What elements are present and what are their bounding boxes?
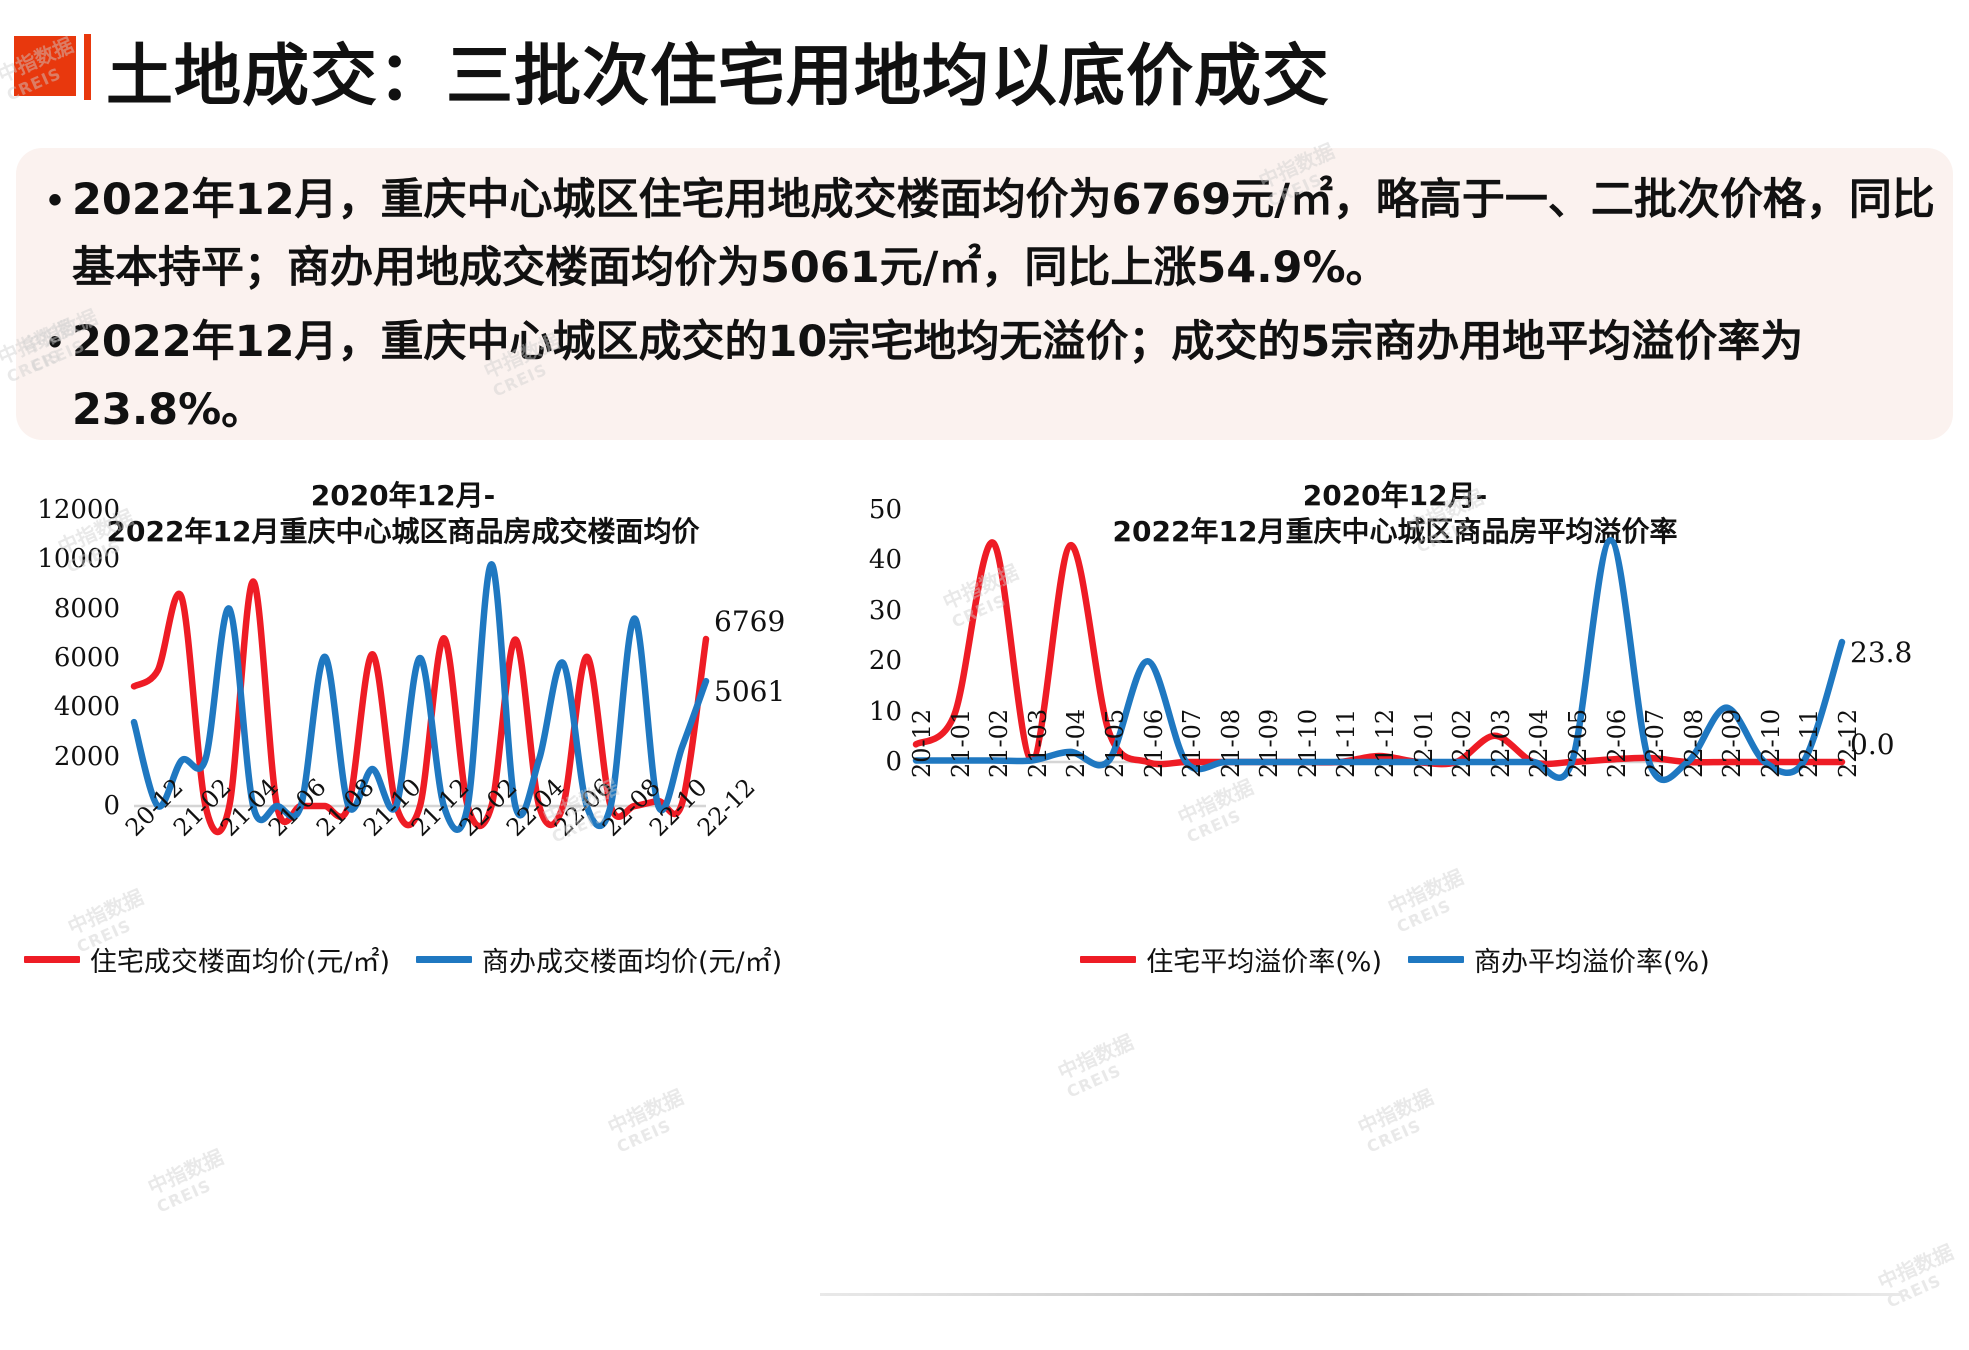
x-axis-tick: 22-11 [1795, 709, 1823, 778]
y-axis-tick: 4000 [8, 692, 120, 722]
x-axis-tick: 22-05 [1564, 709, 1592, 778]
chart-price: 2020年12月- 2022年12月重庆中心城区商品房成交楼面均价 020004… [8, 470, 798, 1010]
header-accent-bar [84, 34, 91, 100]
summary-panel: • 2022年12月，重庆中心城区住宅用地成交楼面均价为6769元/㎡，略高于一… [16, 148, 1953, 440]
y-axis-tick: 40 [830, 545, 902, 575]
bullet-text: 2022年12月，重庆中心城区成交的10宗宅地均无溢价；成交的5宗商办用地平均溢… [72, 308, 1935, 444]
chart-premium: 2020年12月- 2022年12月重庆中心城区商品房平均溢价率 0102030… [830, 470, 1960, 1010]
series-end-label: 6769 [714, 605, 785, 638]
x-axis-tick: 22-09 [1718, 709, 1746, 778]
watermark: 中指数据CREIS [605, 1086, 696, 1159]
y-axis-tick: 8000 [8, 594, 120, 624]
footer-divider [820, 1293, 1900, 1296]
x-axis-tick: 22-06 [1603, 709, 1631, 778]
legend-item[interactable]: 住宅成交楼面均价(元/㎡) [24, 940, 390, 979]
x-axis-tick: 21-03 [1024, 709, 1052, 778]
x-axis-tick: 22-10 [1757, 709, 1785, 778]
x-axis-tick: 22-07 [1641, 709, 1669, 778]
x-axis-tick: 22-01 [1410, 709, 1438, 778]
x-axis-tick: 21-12 [1371, 709, 1399, 778]
y-axis-tick: 2000 [8, 742, 120, 772]
x-axis-tick: 20-12 [908, 709, 936, 778]
y-axis-tick: 12000 [8, 495, 120, 525]
legend-item[interactable]: 商办成交楼面均价(元/㎡) [416, 940, 782, 979]
y-axis-tick: 0 [830, 747, 902, 777]
series-end-label: 0.0 [1850, 728, 1895, 761]
plot-area-premium: 0102030405020-1221-0121-0221-0321-0421-0… [830, 502, 1960, 902]
chart-svg [8, 502, 798, 902]
legend-swatch-icon [1080, 956, 1136, 963]
x-axis-tick: 21-06 [1140, 709, 1168, 778]
x-axis-tick: 21-09 [1255, 709, 1283, 778]
series-end-label: 5061 [714, 675, 785, 708]
y-axis-tick: 50 [830, 495, 902, 525]
page-title: 土地成交：三批次住宅用地均以底价成交 [106, 22, 1330, 119]
bullet-marker-icon: • [38, 308, 72, 376]
x-axis-tick: 21-02 [985, 709, 1013, 778]
slide-header: 土地成交：三批次住宅用地均以底价成交 [0, 14, 1969, 124]
legend-label: 住宅成交楼面均价(元/㎡) [90, 940, 390, 979]
x-axis-tick: 21-05 [1101, 709, 1129, 778]
header-accent-square [14, 36, 76, 96]
watermark: 中指数据CREIS [1875, 1241, 1966, 1314]
legend-item[interactable]: 商办平均溢价率(%) [1408, 940, 1710, 979]
watermark: 中指数据CREIS [1055, 1031, 1146, 1104]
y-axis-tick: 10 [830, 697, 902, 727]
y-axis-tick: 10000 [8, 544, 120, 574]
plot-area-price: 02000400060008000100001200020-1221-0221-… [8, 502, 798, 902]
y-axis-tick: 0 [8, 791, 120, 821]
x-axis-tick: 21-11 [1332, 709, 1360, 778]
legend-label: 商办平均溢价率(%) [1474, 940, 1710, 979]
legend-label: 住宅平均溢价率(%) [1146, 940, 1382, 979]
watermark: 中指数据CREIS [1355, 1086, 1446, 1159]
x-axis-tick: 21-07 [1178, 709, 1206, 778]
chart-svg [830, 502, 1960, 902]
chart-legend-price: 住宅成交楼面均价(元/㎡)商办成交楼面均价(元/㎡) [8, 940, 798, 979]
x-axis-tick: 22-02 [1448, 709, 1476, 778]
x-axis-tick: 22-04 [1525, 709, 1553, 778]
bullet-item: • 2022年12月，重庆中心城区住宅用地成交楼面均价为6769元/㎡，略高于一… [38, 166, 1935, 302]
x-axis-tick: 21-04 [1062, 709, 1090, 778]
legend-label: 商办成交楼面均价(元/㎡) [482, 940, 782, 979]
legend-swatch-icon [1408, 956, 1464, 963]
legend-swatch-icon [416, 956, 472, 963]
summary-bullets: • 2022年12月，重庆中心城区住宅用地成交楼面均价为6769元/㎡，略高于一… [38, 166, 1935, 450]
x-axis-tick: 22-08 [1680, 709, 1708, 778]
y-axis-tick: 20 [830, 646, 902, 676]
bullet-item: • 2022年12月，重庆中心城区成交的10宗宅地均无溢价；成交的5宗商办用地平… [38, 308, 1935, 444]
series-end-label: 23.8 [1850, 636, 1912, 669]
x-axis-tick: 21-01 [947, 709, 975, 778]
bullet-marker-icon: • [38, 166, 72, 234]
watermark: 中指数据CREIS [145, 1146, 236, 1219]
legend-item[interactable]: 住宅平均溢价率(%) [1080, 940, 1382, 979]
chart-legend-premium: 住宅平均溢价率(%)商办平均溢价率(%) [830, 940, 1960, 979]
bullet-text: 2022年12月，重庆中心城区住宅用地成交楼面均价为6769元/㎡，略高于一、二… [72, 166, 1935, 302]
y-axis-tick: 30 [830, 596, 902, 626]
x-axis-tick: 21-08 [1217, 709, 1245, 778]
slide: 土地成交：三批次住宅用地均以底价成交 • 2022年12月，重庆中心城区住宅用地… [0, 0, 1969, 1350]
x-axis-tick: 21-10 [1294, 709, 1322, 778]
legend-swatch-icon [24, 956, 80, 963]
y-axis-tick: 6000 [8, 643, 120, 673]
x-axis-tick: 22-03 [1487, 709, 1515, 778]
